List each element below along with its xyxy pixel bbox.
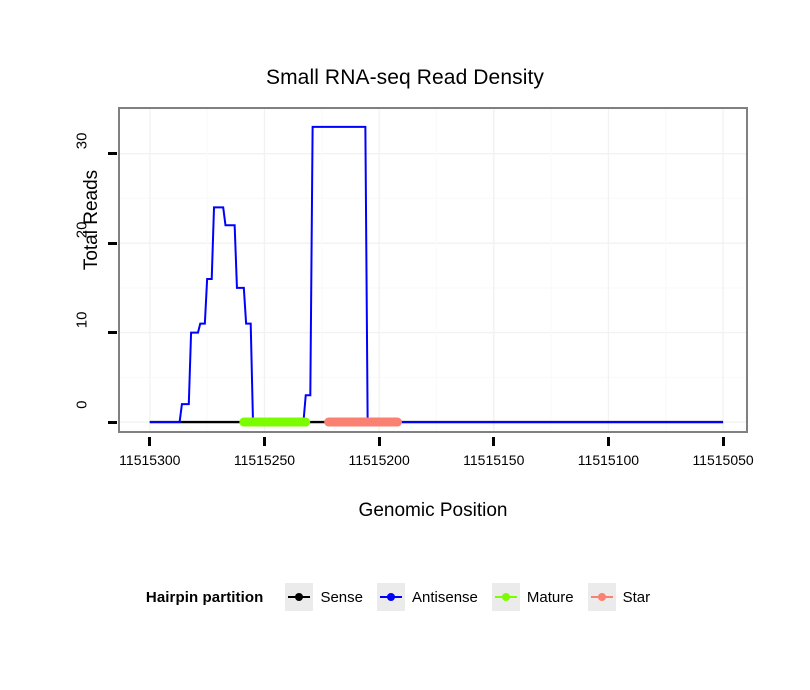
plot-area [120, 109, 746, 431]
x-tick-label: 11515100 [548, 452, 668, 468]
legend-point-icon [502, 593, 510, 601]
legend-point-icon [598, 593, 606, 601]
y-tick-mark [108, 242, 117, 245]
legend-label: Sense [320, 589, 363, 606]
x-tick-mark [378, 437, 381, 446]
legend-point-icon [387, 593, 395, 601]
legend-label: Mature [527, 589, 574, 606]
legend-point-icon [295, 593, 303, 601]
y-tick-label: 30 [74, 132, 91, 172]
plot-panel [118, 107, 748, 433]
x-tick-mark [148, 437, 151, 446]
y-tick-label: 0 [74, 401, 91, 441]
x-tick-label: 11515250 [204, 452, 324, 468]
legend-key-antisense [377, 583, 405, 611]
legend-key-star [588, 583, 616, 611]
legend-item-antisense[interactable]: Antisense [377, 583, 478, 611]
legend-item-sense[interactable]: Sense [285, 583, 363, 611]
legend-item-star[interactable]: Star [588, 583, 651, 611]
legend-key-sense [285, 583, 313, 611]
legend-label: Antisense [412, 589, 478, 606]
x-tick-mark [492, 437, 495, 446]
legend-label: Star [623, 589, 651, 606]
chart-title: Small RNA-seq Read Density [0, 66, 810, 90]
y-tick-label: 20 [74, 222, 91, 262]
legend-key-mature [492, 583, 520, 611]
x-tick-mark [263, 437, 266, 446]
y-tick-label: 10 [74, 311, 91, 351]
y-tick-mark [108, 331, 117, 334]
x-tick-mark [722, 437, 725, 446]
chart-root: Small RNA-seq Read Density Total Reads 0… [0, 0, 810, 690]
x-tick-label: 11515300 [90, 452, 210, 468]
x-tick-mark [607, 437, 610, 446]
y-tick-mark [108, 421, 117, 424]
legend-title: Hairpin partition [146, 589, 264, 606]
x-tick-label: 11515050 [663, 452, 783, 468]
x-axis-label: Genomic Position [118, 500, 748, 522]
legend-item-mature[interactable]: Mature [492, 583, 574, 611]
x-tick-label: 11515150 [434, 452, 554, 468]
legend: Hairpin partition SenseAntisenseMatureSt… [0, 583, 810, 611]
x-tick-label: 11515200 [319, 452, 439, 468]
y-tick-mark [108, 152, 117, 155]
